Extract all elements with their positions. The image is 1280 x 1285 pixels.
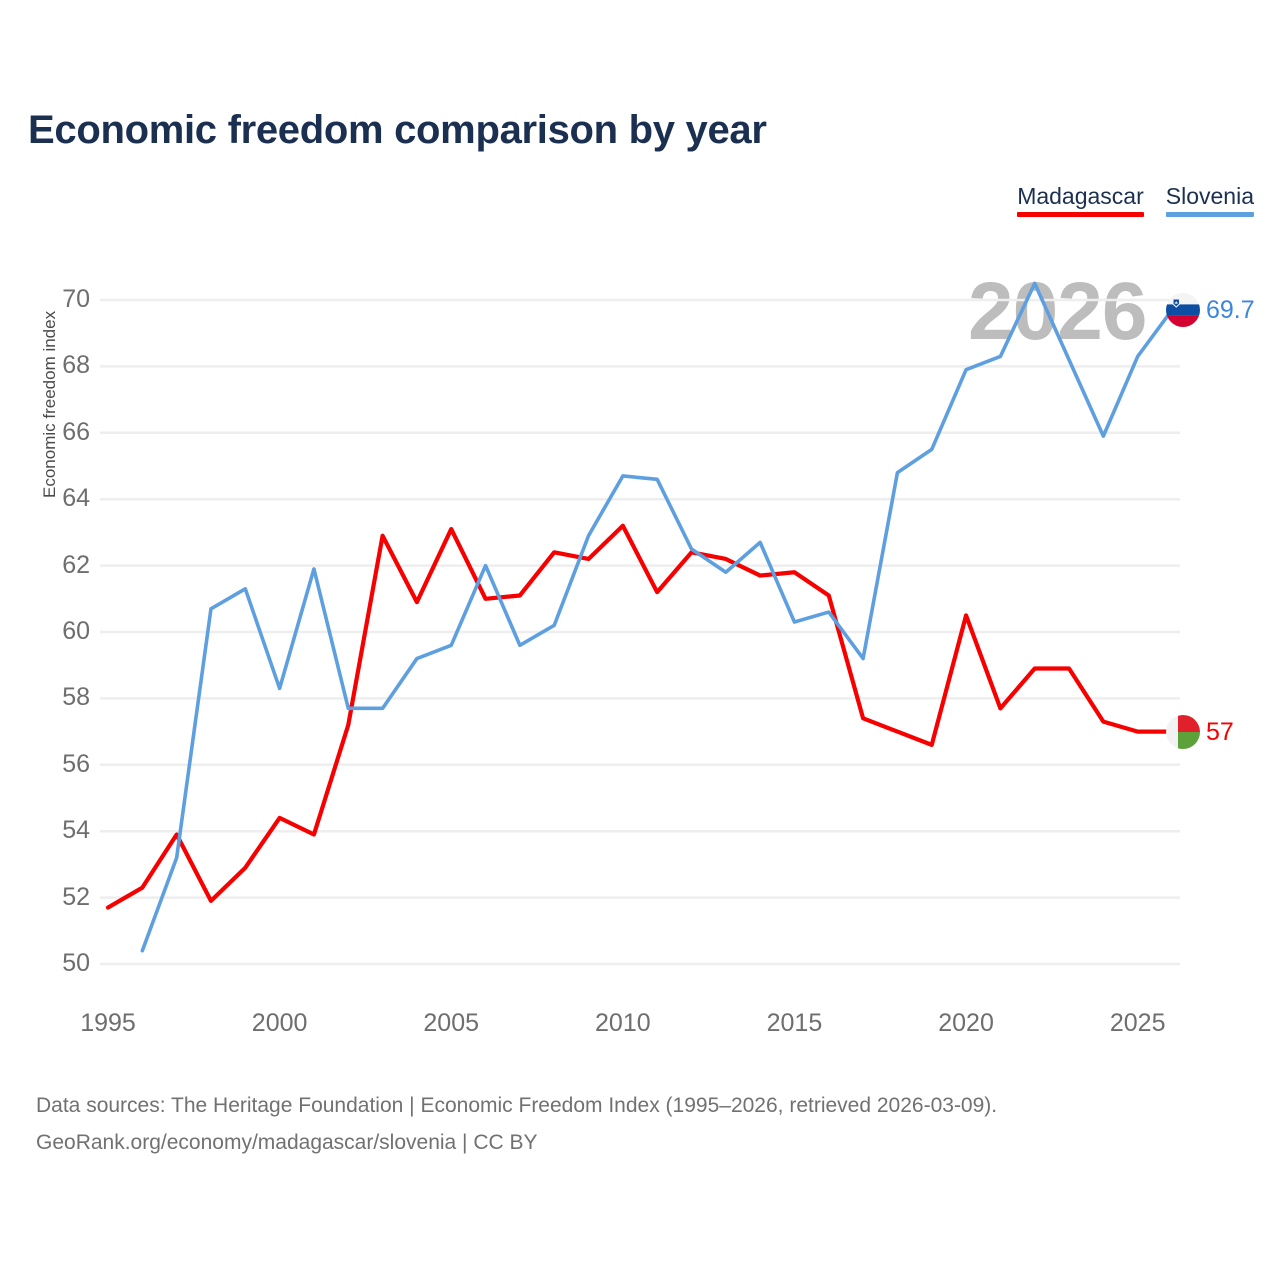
y-tick-label: 52 [30, 885, 90, 910]
y-tick-label: 54 [30, 818, 90, 843]
y-tick-label: 58 [30, 685, 90, 710]
x-tick-label: 1995 [53, 1011, 163, 1036]
y-tick-label: 70 [30, 287, 90, 312]
x-tick-label: 2025 [1083, 1011, 1193, 1036]
footer-line-2: GeoRank.org/economy/madagascar/slovenia … [36, 1124, 997, 1161]
x-tick-label: 2000 [225, 1011, 335, 1036]
footer-line-1: Data sources: The Heritage Foundation | … [36, 1087, 997, 1124]
flag-marker-slovenia-icon [1166, 293, 1200, 327]
x-tick-label: 2010 [568, 1011, 678, 1036]
y-tick-label: 62 [30, 553, 90, 578]
x-tick-label: 2005 [396, 1011, 506, 1036]
y-tick-label: 68 [30, 353, 90, 378]
y-tick-label: 64 [30, 486, 90, 511]
series-line-slovenia[interactable] [142, 283, 1172, 950]
flag-marker-madagascar-icon [1166, 715, 1200, 749]
chart-page: Economic freedom comparison by year Mada… [0, 0, 1280, 1280]
series-line-madagascar[interactable] [108, 526, 1172, 908]
y-tick-label: 50 [30, 951, 90, 976]
end-value-slovenia: 69.7 [1206, 298, 1255, 323]
y-tick-label: 66 [30, 420, 90, 445]
x-tick-label: 2020 [911, 1011, 1021, 1036]
end-value-madagascar: 57 [1206, 720, 1234, 745]
x-tick-label: 2015 [739, 1011, 849, 1036]
footer-credits: Data sources: The Heritage Foundation | … [36, 1087, 997, 1161]
y-tick-label: 56 [30, 752, 90, 777]
y-tick-label: 60 [30, 619, 90, 644]
